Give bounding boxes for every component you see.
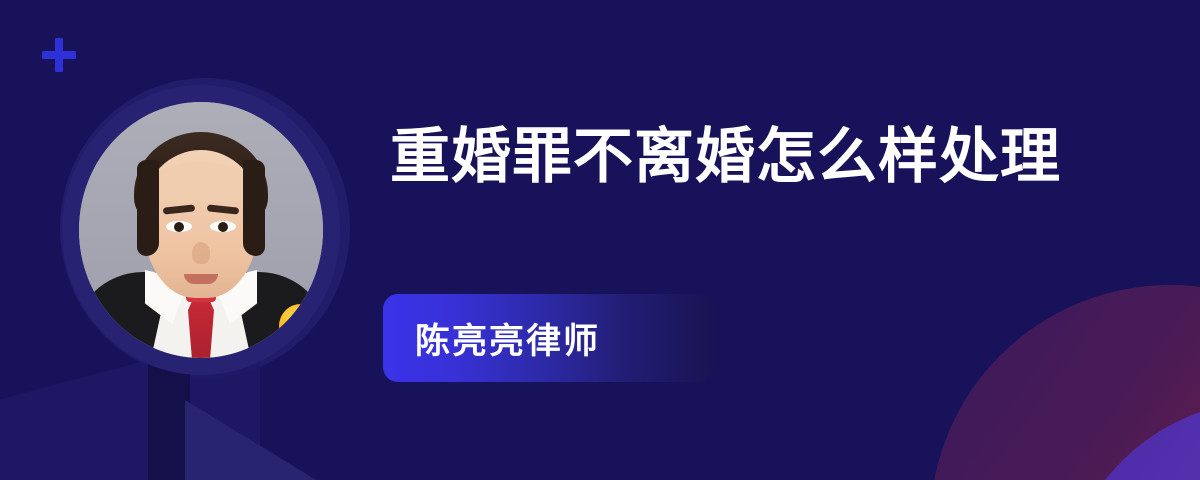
verified-badge-icon: V	[279, 304, 323, 348]
portrait-eye-left	[166, 221, 192, 232]
verified-badge-glyph: V	[293, 314, 309, 339]
plus-icon	[42, 38, 76, 72]
promo-banner: V 重婚罪不离婚怎么样处理 陈亮亮律师	[0, 0, 1200, 480]
portrait-nose	[192, 242, 210, 264]
portrait-forehead	[151, 162, 251, 202]
portrait-mouth	[184, 274, 218, 284]
lawyer-name-button[interactable]: 陈亮亮律师	[383, 294, 713, 382]
portrait-hair-right	[243, 160, 265, 256]
avatar: V	[62, 85, 340, 375]
avatar-photo: V	[79, 102, 323, 358]
page-title: 重婚罪不离婚怎么样处理	[390, 124, 1061, 190]
portrait-hair-left	[137, 160, 159, 256]
portrait-eye-right	[210, 221, 236, 232]
